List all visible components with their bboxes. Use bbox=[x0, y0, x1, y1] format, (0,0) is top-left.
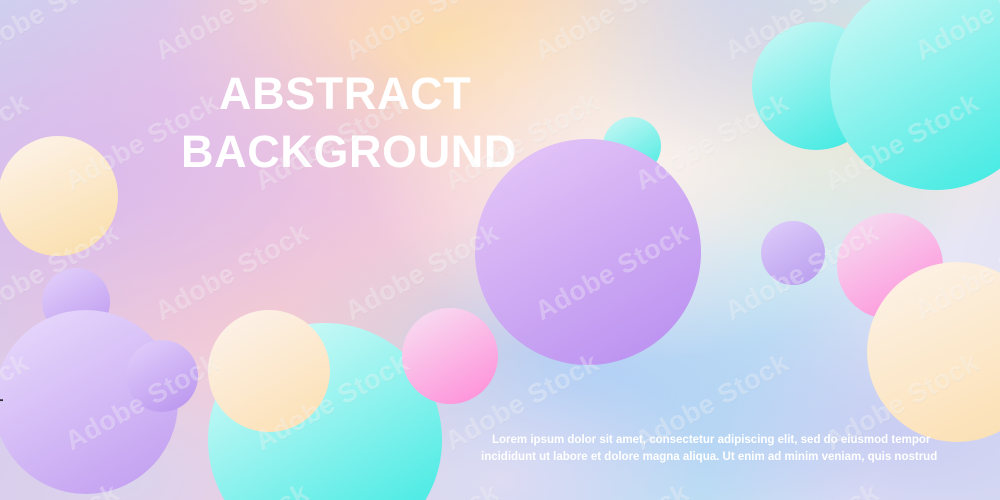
asset-credit-label: Adobe Stock | #407494298 bbox=[0, 314, 3, 494]
headline-line-2: BACKGROUND bbox=[181, 128, 517, 176]
headline-line-1: ABSTRACT bbox=[219, 70, 471, 118]
bubble-purple-right-small bbox=[761, 221, 825, 285]
bubble-purple-small-mid bbox=[126, 340, 198, 412]
body-copy-line-2: incididunt ut labore et dolore magna ali… bbox=[481, 449, 937, 466]
asset-credit-gutter: Adobe Stock | #407494298 bbox=[0, 0, 22, 500]
stock-preview-canvas: ABSTRACT BACKGROUND Lorem ipsum dolor si… bbox=[0, 0, 1000, 500]
bubble-cream-bottom-mid bbox=[208, 310, 330, 432]
abstract-background-artwork: ABSTRACT BACKGROUND Lorem ipsum dolor si… bbox=[0, 0, 1000, 500]
body-copy-line-1: Lorem ipsum dolor sit amet, consectetur … bbox=[492, 432, 930, 449]
bubble-pink-bottom-mid bbox=[402, 308, 498, 404]
